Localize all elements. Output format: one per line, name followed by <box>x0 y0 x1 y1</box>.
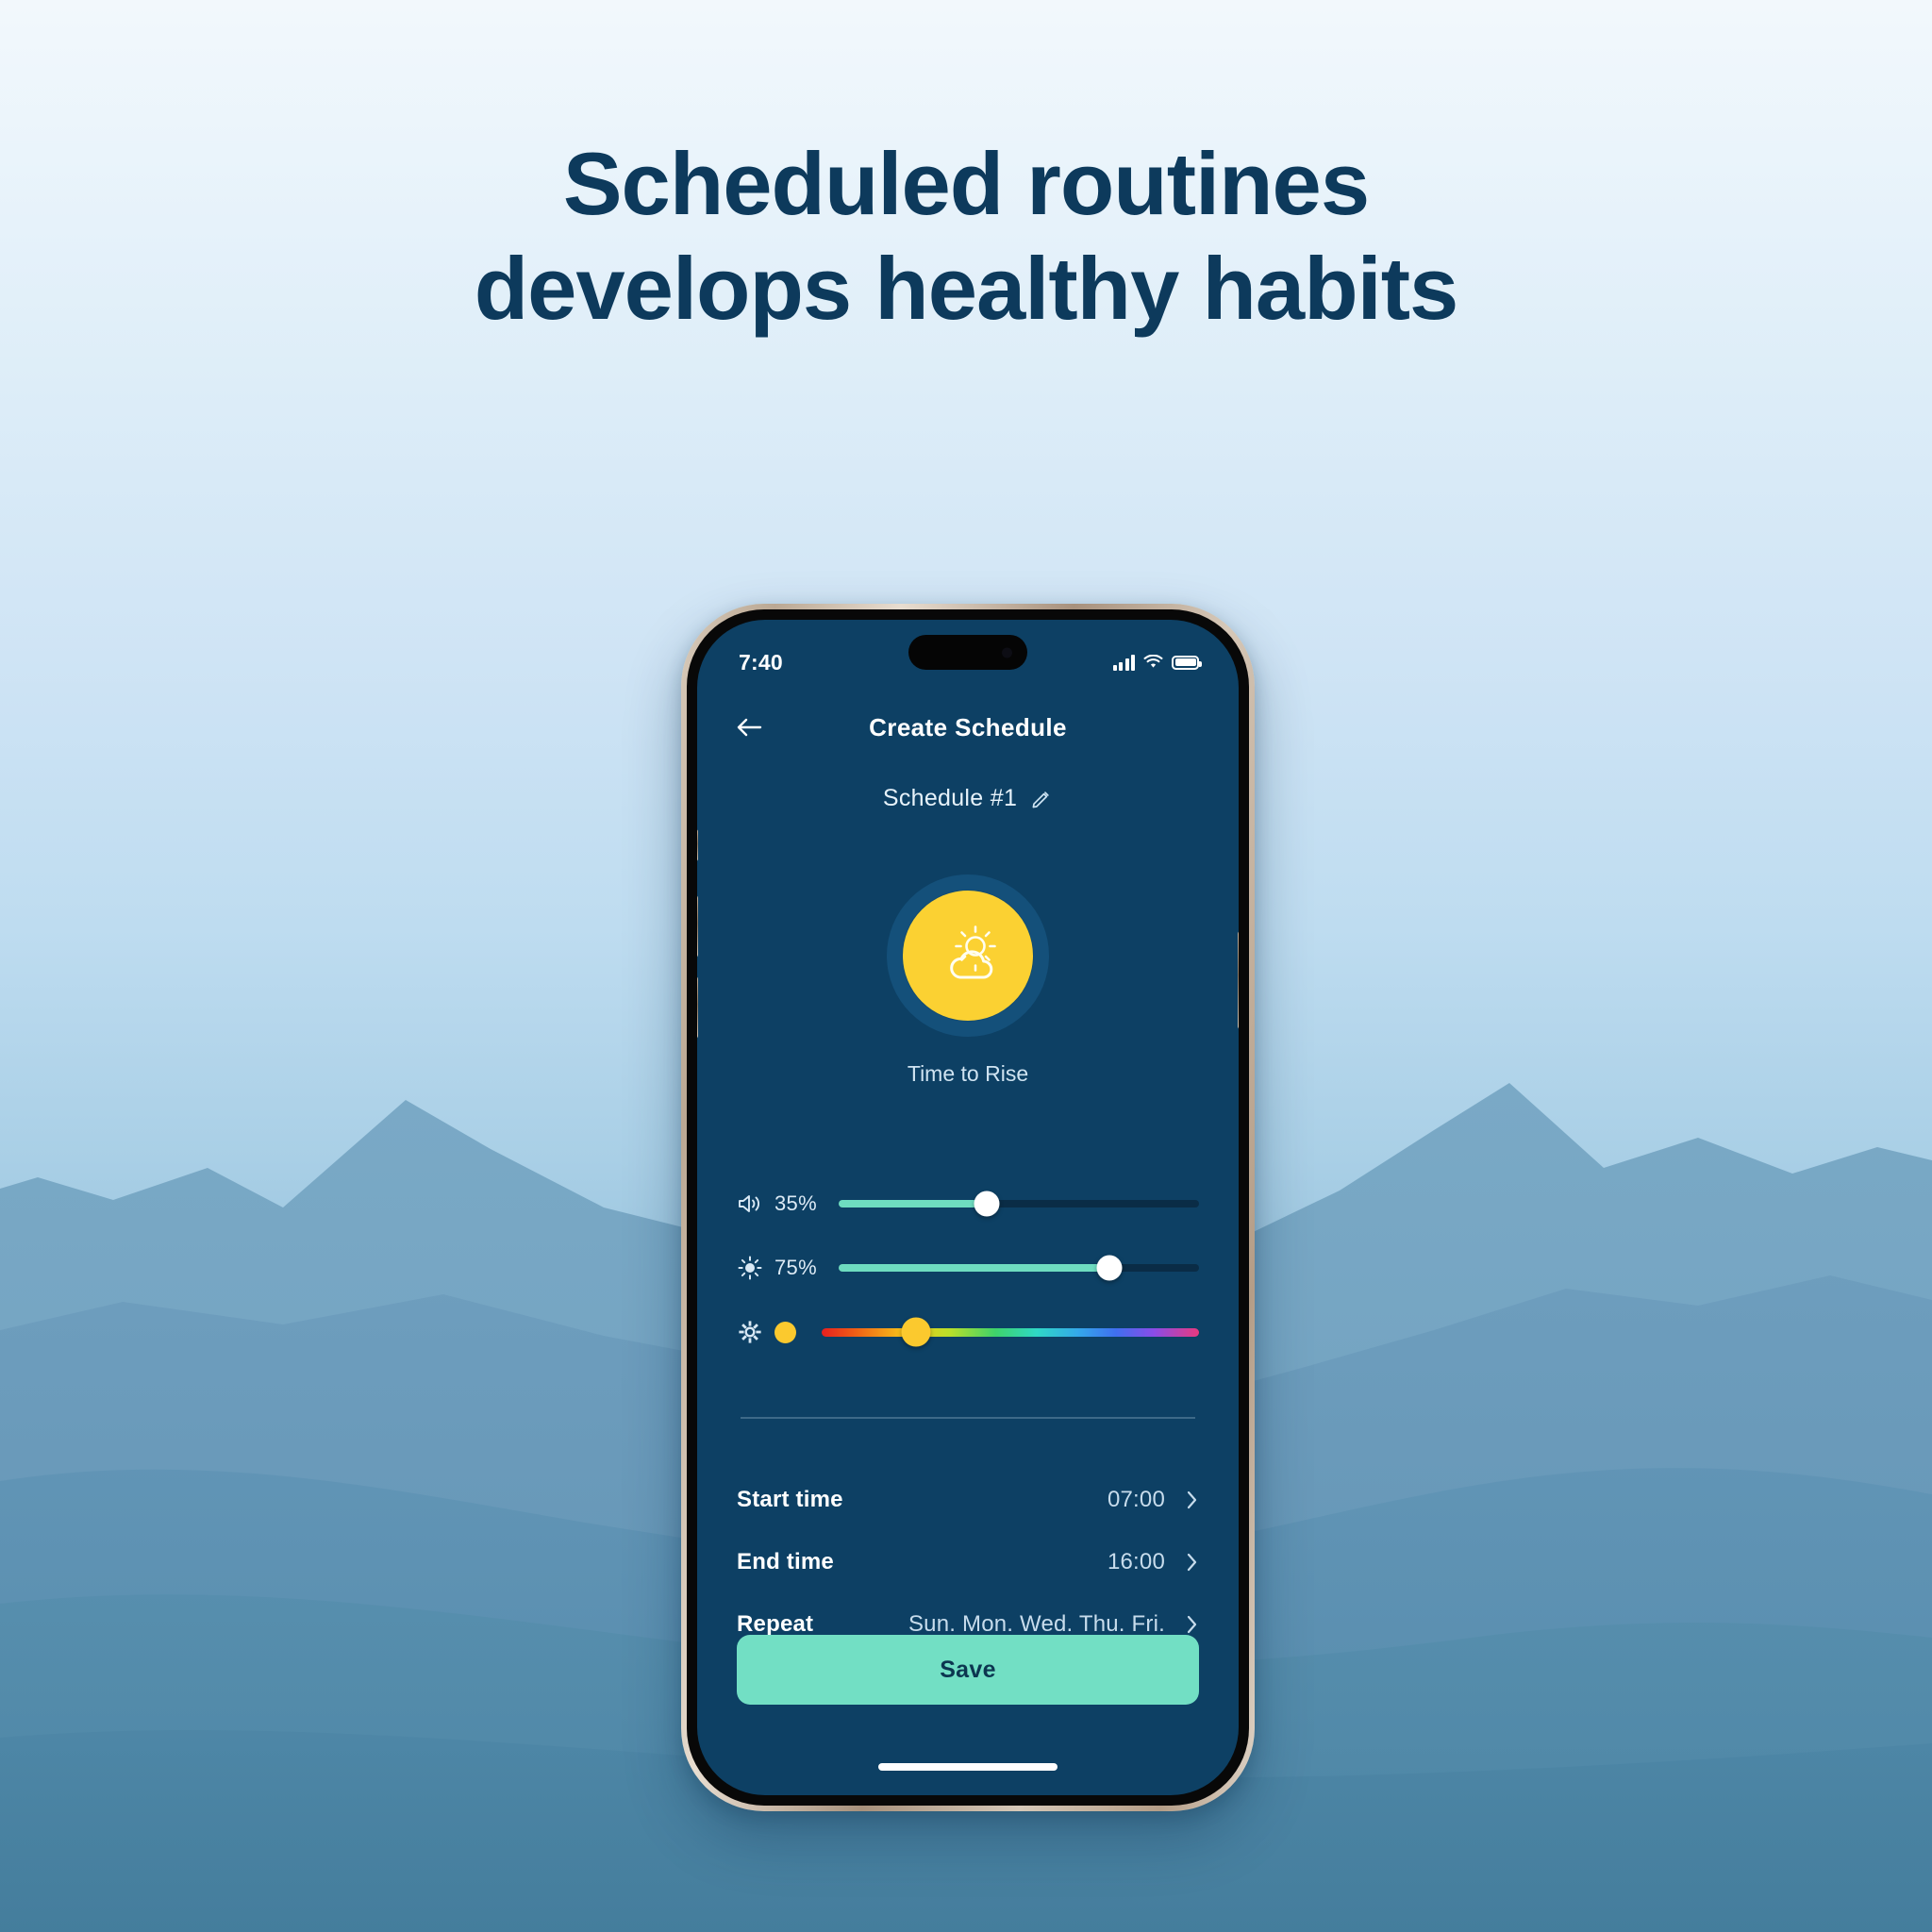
end-time-label: End time <box>737 1549 834 1575</box>
status-icons <box>1113 655 1200 671</box>
brightness-slider-row[interactable]: 75% <box>737 1236 1199 1300</box>
phone-screen: 7:40 <box>697 620 1239 1795</box>
mode-ring <box>887 874 1049 1037</box>
settings-list: Start time 07:00 End time 16:00 Repeat S… <box>697 1469 1239 1656</box>
phone-bezel: 7:40 <box>687 609 1249 1806</box>
repeat-label: Repeat <box>737 1611 813 1638</box>
volume-fill <box>839 1200 987 1207</box>
mode-section: Time to Rise <box>697 874 1239 1087</box>
back-button[interactable] <box>729 708 769 747</box>
dynamic-island <box>908 635 1027 670</box>
end-time-value: 16:00 <box>1108 1549 1165 1575</box>
sliders-section: 35% <box>697 1172 1239 1364</box>
home-indicator[interactable] <box>878 1763 1058 1771</box>
arrow-left-icon <box>735 717 763 738</box>
volume-track[interactable] <box>839 1200 1199 1207</box>
headline-line-2: develops healthy habits <box>0 237 1932 341</box>
color-swatch <box>774 1322 796 1343</box>
start-time-label: Start time <box>737 1487 843 1513</box>
wifi-icon <box>1143 655 1163 670</box>
color-slider-row[interactable] <box>737 1300 1199 1364</box>
chevron-right-icon <box>1184 1491 1199 1509</box>
volume-thumb[interactable] <box>974 1191 999 1217</box>
brightness-sun-icon <box>737 1255 774 1281</box>
start-time-value: 07:00 <box>1108 1487 1165 1513</box>
volume-slider-row[interactable]: 35% <box>737 1172 1199 1236</box>
app-navbar: Create Schedule <box>697 699 1239 756</box>
headline-line-1: Scheduled routines <box>0 132 1932 237</box>
phone-mockup: 7:40 <box>681 604 1255 1811</box>
brightness-value: 75% <box>774 1256 839 1280</box>
mode-label: Time to Rise <box>908 1061 1028 1087</box>
color-thumb[interactable] <box>902 1318 931 1347</box>
sun-behind-cloud-icon <box>931 919 1005 992</box>
brightness-track[interactable] <box>839 1264 1199 1272</box>
speaker-volume-icon <box>737 1192 774 1215</box>
volume-value: 35% <box>774 1191 839 1216</box>
battery-full-icon <box>1172 656 1199 670</box>
section-divider <box>741 1417 1195 1419</box>
front-camera <box>1002 647 1012 658</box>
page-headline: Scheduled routines develops healthy habi… <box>0 132 1932 341</box>
mode-button[interactable] <box>903 891 1033 1021</box>
color-track[interactable] <box>822 1328 1199 1337</box>
brightness-fill <box>839 1264 1109 1272</box>
row-start-time[interactable]: Start time 07:00 <box>737 1469 1199 1531</box>
row-end-time[interactable]: End time 16:00 <box>737 1531 1199 1593</box>
chevron-right-icon <box>1184 1615 1199 1634</box>
cellular-bars-icon <box>1113 655 1136 671</box>
color-wheel-icon <box>737 1319 774 1345</box>
silence-switch[interactable] <box>697 829 698 861</box>
repeat-value: Sun. Mon. Wed. Thu. Fri. <box>908 1611 1165 1638</box>
pencil-icon[interactable] <box>1030 788 1053 810</box>
save-button[interactable]: Save <box>737 1635 1199 1705</box>
brightness-thumb[interactable] <box>1096 1256 1122 1281</box>
chevron-right-icon <box>1184 1553 1199 1572</box>
schedule-name-row[interactable]: Schedule #1 <box>697 785 1239 812</box>
page-title: Create Schedule <box>697 713 1239 742</box>
status-clock: 7:40 <box>739 650 783 675</box>
schedule-name: Schedule #1 <box>883 785 1017 812</box>
